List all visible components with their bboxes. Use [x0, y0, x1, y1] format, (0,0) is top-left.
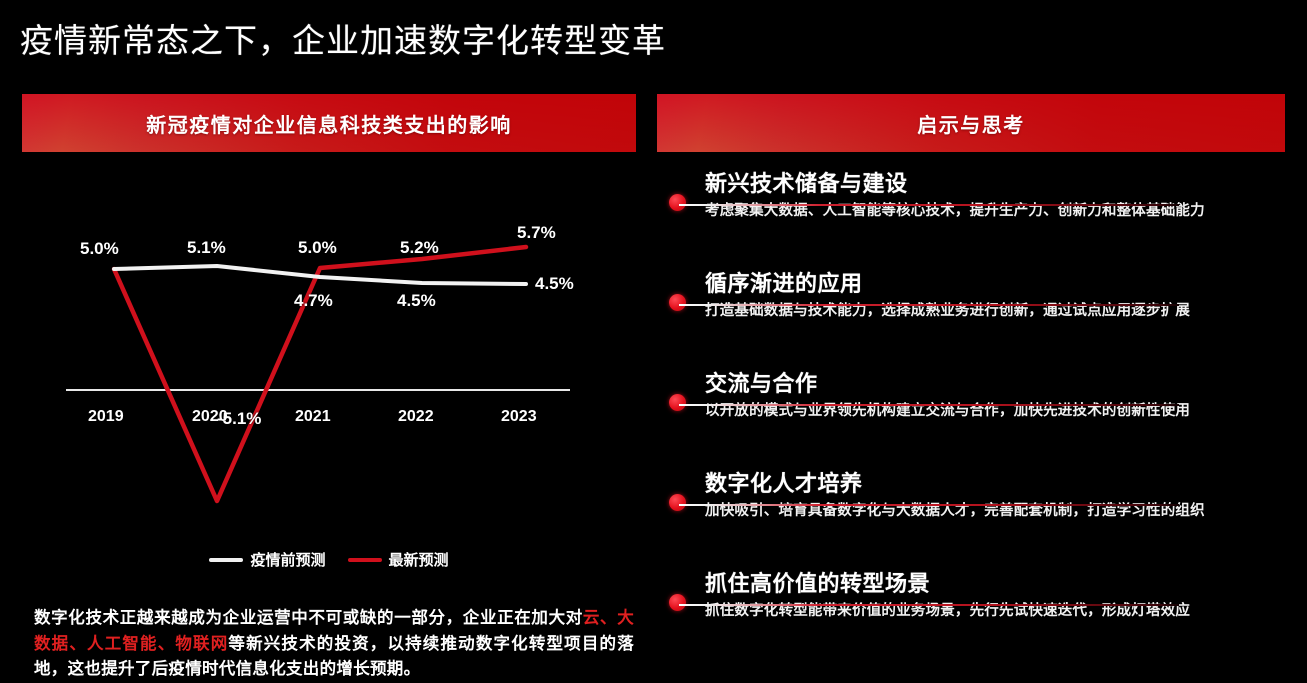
list-item[interactable]: 数字化人才培养 加快吸引、培育具备数字化与大数据人才，完善配套机制，打造学习性的…: [657, 468, 1285, 568]
insight-divider: [679, 504, 1179, 506]
insight-title: 交流与合作: [705, 368, 1285, 396]
bullet-dot-icon: [669, 494, 686, 511]
legend-swatch-white-line-icon: [209, 558, 243, 562]
paragraph-part-1: 数字化技术正越来越成为企业运营中不可或缺的一部分，企业正在加大对: [34, 609, 583, 627]
left-panel: 新冠疫情对企业信息科技类支出的影响 5.0% 5.1% 4.7% 4.5% 4.…: [22, 94, 636, 654]
spending-impact-line-chart: 5.0% 5.1% 4.7% 4.5% 4.5% 5.0% 5.2% 5.7% …: [22, 156, 636, 516]
legend-item-latest-forecast: 最新预测: [348, 549, 449, 570]
insight-divider: [679, 204, 1179, 206]
insight-title: 循序渐进的应用: [705, 268, 1285, 296]
bullet-dot-icon: [669, 394, 686, 411]
right-panel: 启示与思考 新兴技术储备与建设 考虑聚集大数据、人工智能等核心技术，提升生产力、…: [657, 94, 1285, 654]
chart-xtick-2020: 2020: [192, 408, 228, 426]
legend-label-latest-forecast: 最新预测: [389, 549, 449, 570]
bullet-dot-icon: [669, 294, 686, 311]
left-panel-paragraph: 数字化技术正越来越成为企业运营中不可或缺的一部分，企业正在加大对云、大数据、人工…: [34, 606, 634, 683]
bullet-dot-icon: [669, 594, 686, 611]
insight-title: 新兴技术储备与建设: [705, 168, 1285, 196]
chart-xtick-2023: 2023: [501, 408, 537, 426]
chart-value-pre-2019: 5.0%: [80, 239, 119, 259]
legend-swatch-red-line-icon: [348, 558, 382, 562]
right-panel-header: 启示与思考: [657, 94, 1285, 152]
chart-value-latest-2023: 5.7%: [517, 223, 556, 243]
left-panel-header-title: 新冠疫情对企业信息科技类支出的影响: [146, 109, 512, 138]
chart-value-pre-2023: 4.5%: [535, 274, 574, 294]
list-item[interactable]: 交流与合作 以开放的模式与业界领先机构建立交流与合作，加快先进技术的创新性使用: [657, 368, 1285, 468]
insight-list: 新兴技术储备与建设 考虑聚集大数据、人工智能等核心技术，提升生产力、创新力和整体…: [657, 168, 1285, 668]
list-item[interactable]: 循序渐进的应用 打造基础数据与技术能力，选择成熟业务进行创新，通过试点应用逐步扩…: [657, 268, 1285, 368]
insight-title: 抓住高价值的转型场景: [705, 568, 1285, 596]
left-panel-header: 新冠疫情对企业信息科技类支出的影响: [22, 94, 636, 152]
legend-label-pre-pandemic-forecast: 疫情前预测: [250, 549, 325, 570]
chart-value-pre-2021: 4.7%: [294, 291, 333, 311]
chart-value-pre-2022: 4.5%: [397, 291, 436, 311]
chart-xtick-2022: 2022: [398, 408, 434, 426]
chart-value-latest-2021: 5.0%: [298, 238, 337, 258]
insight-divider: [679, 304, 1179, 306]
chart-legend: 疫情前预测 最新预测: [22, 549, 636, 570]
insight-divider: [679, 404, 1179, 406]
chart-xtick-2021: 2021: [295, 408, 331, 426]
chart-value-pre-2020: 5.1%: [187, 238, 226, 258]
chart-svg: [22, 156, 636, 516]
list-item[interactable]: 新兴技术储备与建设 考虑聚集大数据、人工智能等核心技术，提升生产力、创新力和整体…: [657, 168, 1285, 268]
bullet-dot-icon: [669, 194, 686, 211]
chart-value-latest-2022: 5.2%: [400, 238, 439, 258]
right-panel-header-title: 启示与思考: [917, 109, 1025, 138]
legend-item-pre-pandemic-forecast: 疫情前预测: [209, 549, 325, 570]
insight-divider: [679, 604, 1179, 606]
list-item[interactable]: 抓住高价值的转型场景 抓住数字化转型能带来价值的业务场景，先行先试快速迭代，形成…: [657, 568, 1285, 668]
page-title: 疫情新常态之下，企业加速数字化转型变革: [20, 14, 666, 62]
insight-title: 数字化人才培养: [705, 468, 1285, 496]
chart-xtick-2019: 2019: [88, 408, 124, 426]
